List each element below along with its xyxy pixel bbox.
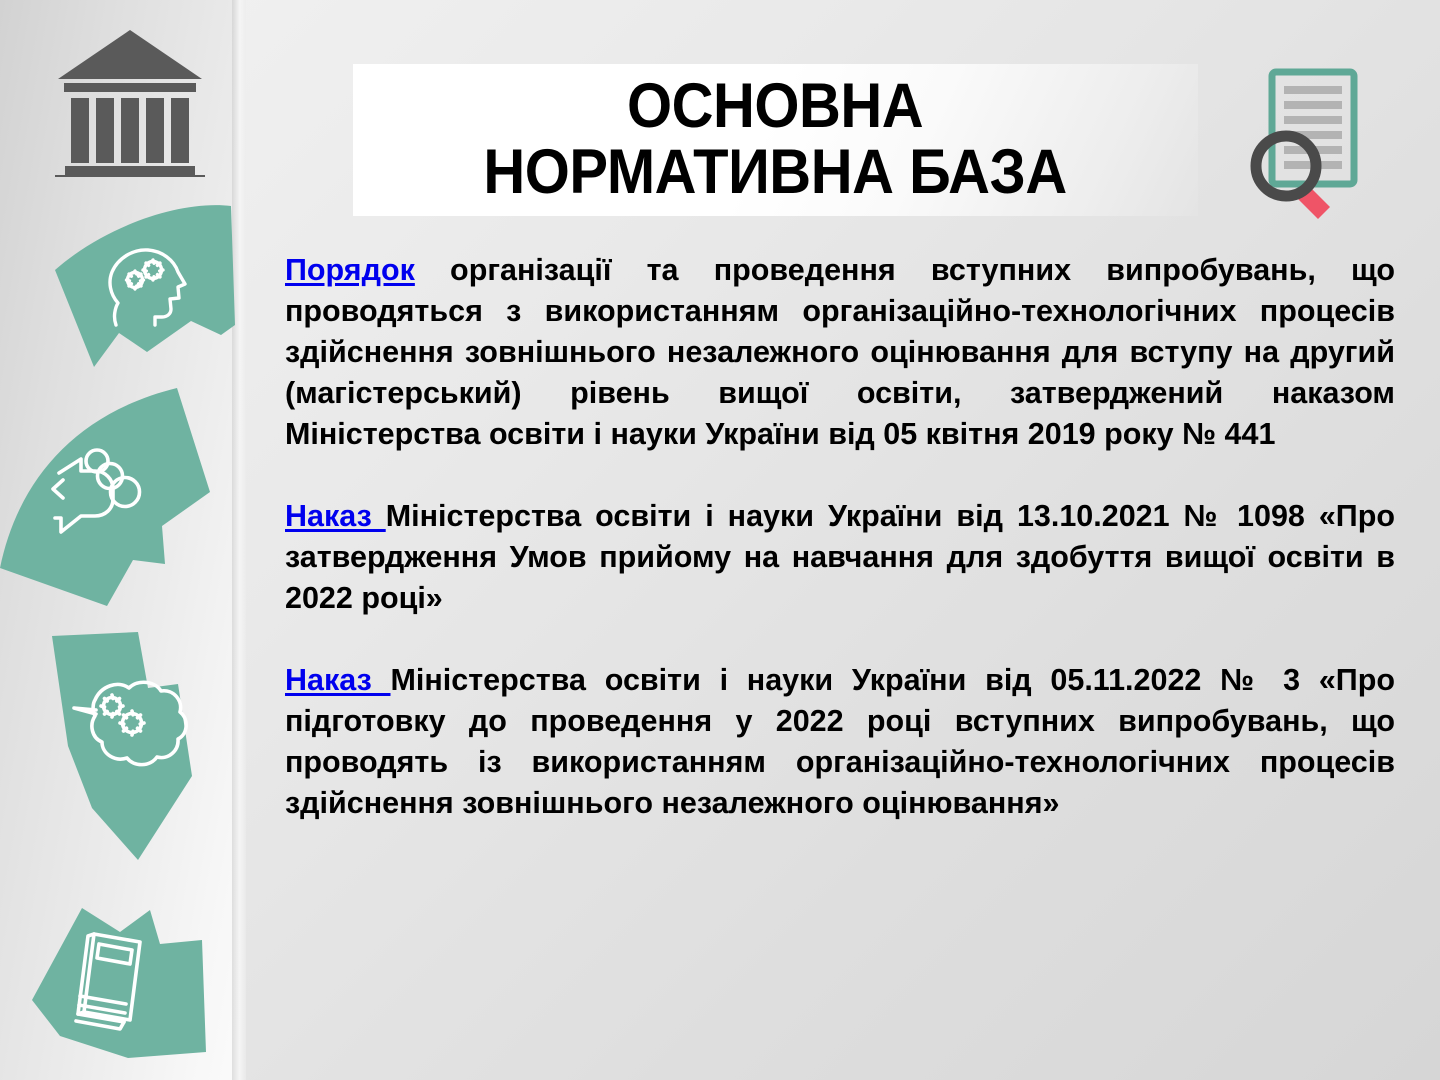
- slide-body-content: Порядок організації та проведення вступн…: [285, 250, 1395, 824]
- deco-shape-brain-gears: [20, 628, 220, 868]
- deco-shape-head-gears: [0, 192, 240, 372]
- deco-shape-people-group: [0, 368, 220, 618]
- paragraph-poryadok: Порядок організації та проведення вступн…: [285, 250, 1395, 455]
- paragraph-nakaz-3-text: Міністерства освіти і науки України від …: [285, 663, 1395, 820]
- deco-shape-book: [10, 888, 210, 1068]
- page-title: ОСНОВНА НОРМАТИВНА БАЗА: [475, 74, 1077, 205]
- strip-edge-highlight: [232, 0, 246, 1080]
- paragraph-nakaz-1098: Наказ Міністерства освіти і науки Україн…: [285, 496, 1395, 619]
- link-nakaz-1098[interactable]: Наказ: [285, 499, 386, 533]
- bank-building-icon: [55, 22, 205, 177]
- link-poryadok[interactable]: Порядок: [285, 253, 415, 287]
- paragraph-nakaz-1098-text: Міністерства освіти і науки України від …: [285, 499, 1395, 615]
- paragraph-poryadok-text: організації та проведення вступних випро…: [285, 253, 1395, 451]
- link-nakaz-3[interactable]: Наказ: [285, 663, 391, 697]
- document-magnifier-icon: [1238, 68, 1406, 233]
- slide-canvas: ОСНОВНА НОРМАТИВНА БАЗА Порядок організа…: [0, 0, 1440, 1080]
- paragraph-nakaz-3: Наказ Міністерства освіти і науки Україн…: [285, 660, 1395, 824]
- slide-title-box: ОСНОВНА НОРМАТИВНА БАЗА: [353, 64, 1198, 216]
